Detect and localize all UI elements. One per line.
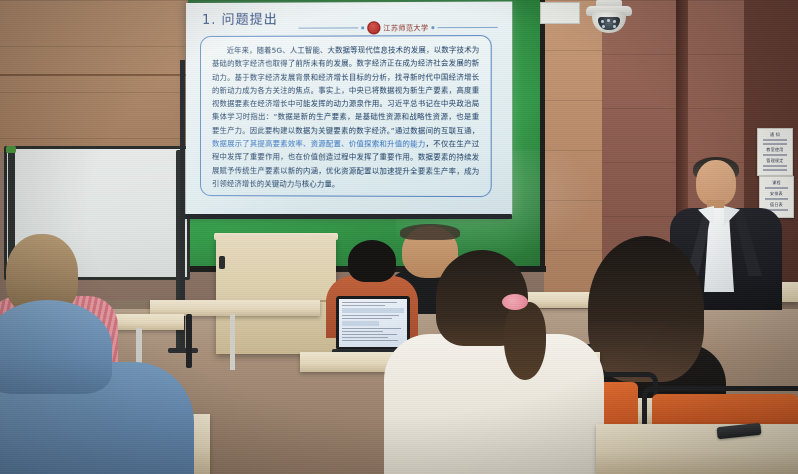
wood-panel-seam — [0, 74, 188, 76]
projection-screen: 1. 问题提出 江苏师范大学 近年来，随着5G、人工智能、大数据等现代信息技术的… — [186, 2, 512, 216]
screen-bottom-rail — [182, 214, 512, 219]
slide-body-highlight: 数据展示了其提高要素效率、资源配置、价值探索和升值的能力 — [212, 139, 426, 148]
student-body — [384, 334, 604, 474]
chalkboard-frame-right — [540, 0, 545, 272]
whiteboard-clip — [6, 146, 16, 153]
slide-logo-row: 江苏师范大学 — [298, 21, 497, 35]
logo-rule-right — [438, 27, 498, 28]
notice-line: 通 知 — [760, 132, 790, 137]
student-hood — [0, 300, 112, 394]
wood-wall-panel-left — [0, 0, 188, 152]
student-hair — [588, 236, 704, 382]
student-hair — [348, 240, 396, 282]
student-hair — [400, 224, 460, 240]
slide-body-paragraph: 近年来，随着5G、人工智能、大数据等现代信息技术的发展，以数字技术为基础的数字经… — [212, 43, 479, 191]
podium-handle — [219, 256, 225, 269]
desk-leg — [230, 314, 235, 370]
chalkboard-notice — [540, 2, 580, 24]
notice-line: 教室使用 — [760, 147, 790, 152]
university-name: 江苏师范大学 — [383, 23, 428, 33]
student-ponytail-hair — [504, 302, 546, 380]
student-ponytail — [398, 250, 588, 474]
slide-title: 1. 问题提出 — [202, 9, 278, 28]
student-hoodie — [0, 300, 194, 474]
slide-body-part-1: 近年来，随着5G、人工智能、大数据等现代信息技术的发展，以数字技术为基础的数字经… — [212, 45, 479, 135]
university-emblem-icon — [367, 21, 380, 34]
slide-text-box: 近年来，随着5G、人工智能、大数据等现代信息技术的发展，以数字技术为基础的数字经… — [200, 35, 492, 197]
ceiling-dome-camera — [582, 0, 636, 34]
logo-rule-left — [298, 27, 357, 28]
logo-dot-left — [361, 26, 364, 29]
laptop-screen — [339, 299, 407, 347]
classroom-photo: 通 知 教室使用 管理规定 课程 安排表 值日表 1. 问题提出 江苏师范大学 … — [0, 0, 798, 474]
student-desk — [596, 424, 798, 474]
hair-scrunchie — [502, 294, 528, 310]
logo-dot-right — [432, 26, 435, 29]
